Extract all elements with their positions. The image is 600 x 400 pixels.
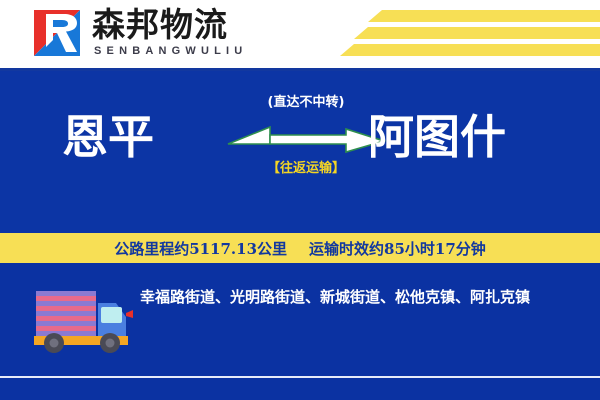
- coverage-area-list: 幸福路街道、光明路街道、新城街道、松他克镇、阿扎克镇: [140, 285, 588, 310]
- roundtrip-note: 【往返运输】: [238, 157, 374, 176]
- brand-header: 森邦物流 SENBANGWULIU: [0, 0, 600, 68]
- yellow-diagonal-stripes-icon: [270, 0, 600, 68]
- distance-metric: 公路里程约5117.13公里: [114, 238, 287, 259]
- metrics-bar: 公路里程约5117.13公里 运输时效约85小时17分钟: [0, 233, 600, 263]
- destination-city: 阿图什: [368, 109, 506, 165]
- coverage-panel: 幸福路街道、光明路街道、新城街道、松他克镇、阿扎克镇: [0, 263, 600, 376]
- origin-city: 恩平: [62, 109, 154, 165]
- brand-name-cn: 森邦物流: [92, 7, 228, 43]
- brand-name-en: SENBANGWULIU: [94, 45, 247, 57]
- bidirectional-arrow-icon: [226, 117, 386, 162]
- direct-service-note: (直达不中转): [238, 91, 374, 110]
- duration-metric: 运输时效约85小时17分钟: [309, 238, 486, 259]
- route-panel: 恩平 (直达不中转) 【往返运输】 阿图什: [0, 71, 600, 233]
- logistics-route-banner: 森邦物流 SENBANGWULIU 恩平 (直达不中转) 【往返运输】 阿图什: [0, 0, 600, 400]
- route-arrow-group: (直达不中转) 【往返运输】: [238, 91, 374, 211]
- senbang-r-logo-icon: [30, 8, 86, 58]
- delivery-truck-icon: [30, 281, 134, 355]
- footer-strip: [0, 378, 600, 400]
